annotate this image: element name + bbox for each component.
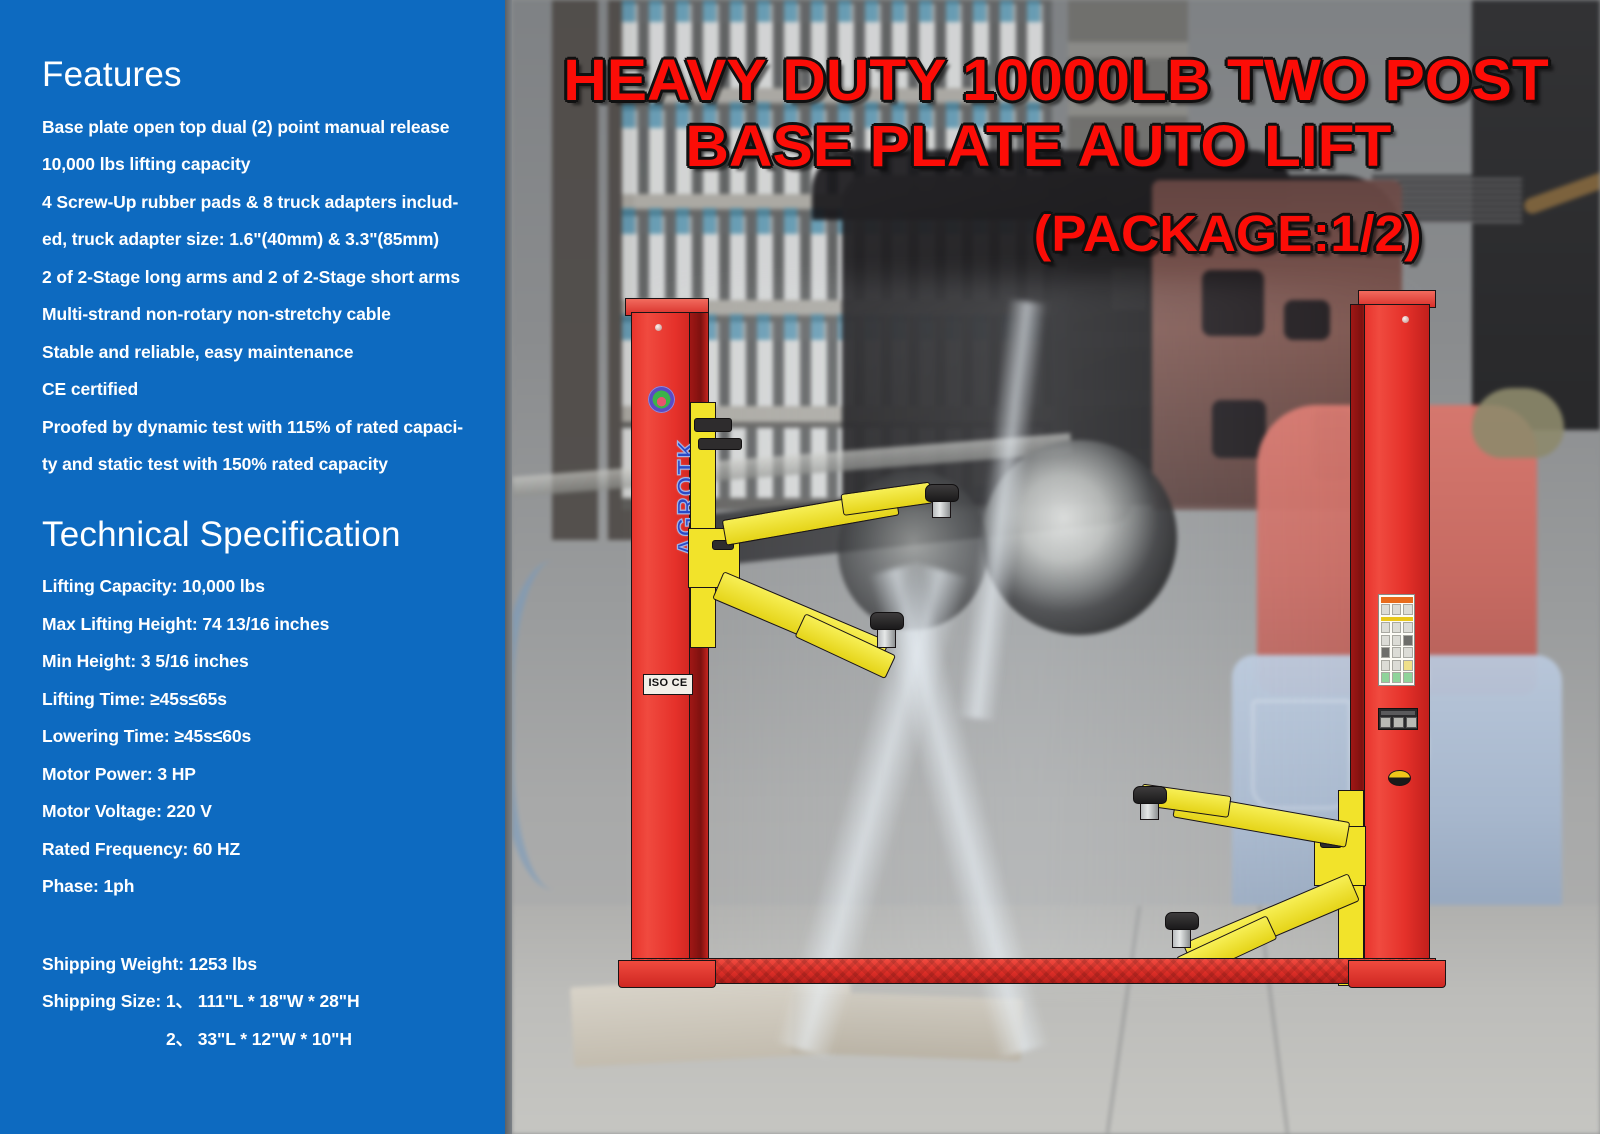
spec-item: Lifting Capacity: 10,000 lbs	[42, 568, 481, 606]
specifications-panel: Features Base plate open top dual (2) po…	[0, 0, 505, 1134]
two-post-lift: AGROTK ISO CE	[512, 0, 1600, 1134]
decal-icon	[1381, 672, 1391, 683]
iso-ce-badge: ISO CE	[643, 674, 693, 695]
spec-item: Motor Power: 3 HP	[42, 756, 481, 794]
features-title: Features	[42, 56, 481, 95]
panel-divider	[505, 0, 512, 1134]
decal-icon	[1392, 647, 1402, 658]
shipping-size-1: Shipping Size: 1、 111"L * 18"W * 28"H	[42, 983, 481, 1021]
spec-item: Max Lifting Height: 74 13/16 inches	[42, 606, 481, 644]
control-button-2[interactable]	[1393, 717, 1404, 728]
feature-item: 10,000 lbs lifting capacity	[42, 146, 481, 184]
feature-item: Base plate open top dual (2) point manua…	[42, 109, 481, 147]
control-button-3[interactable]	[1406, 717, 1417, 728]
decal-icon	[1381, 622, 1391, 633]
decal-icon	[1381, 604, 1391, 615]
agrotk-emblem-left	[648, 386, 675, 413]
spec-item: Phase: 1ph	[42, 868, 481, 906]
post-foot-left	[618, 960, 716, 988]
safety-decal	[1378, 594, 1415, 686]
decal-row-4	[1381, 647, 1413, 658]
decal-icon	[1403, 660, 1413, 671]
decal-icon	[1403, 647, 1413, 658]
spacer	[42, 906, 481, 946]
decal-icon	[1392, 635, 1402, 646]
product-photo: AGROTK ISO CE	[512, 0, 1600, 1134]
post-bolt-right	[1402, 316, 1409, 323]
decal-icon	[1381, 647, 1391, 658]
decal-icon	[1381, 635, 1391, 646]
shipping-weight: Shipping Weight: 1253 lbs	[42, 946, 481, 984]
spec-item: Rated Frequency: 60 HZ	[42, 831, 481, 869]
decal-icon	[1403, 604, 1413, 615]
feature-item: Stable and reliable, easy maintenance	[42, 334, 481, 372]
control-plate[interactable]	[1378, 708, 1418, 730]
decal-icon	[1392, 622, 1402, 633]
carriage-slide-left	[694, 418, 732, 432]
shipping-size-2: 2、 33"L * 12"W * 10"H	[42, 1021, 481, 1059]
feature-item: 2 of 2-Stage long arms and 2 of 2-Stage …	[42, 259, 481, 297]
feature-item: ty and static test with 150% rated capac…	[42, 446, 481, 484]
decal-danger-header	[1381, 597, 1413, 603]
product-marketing-poster: AGROTK ISO CE	[0, 0, 1600, 1134]
control-button-1[interactable]	[1380, 717, 1391, 728]
decal-icon	[1392, 672, 1402, 683]
decal-icon	[1403, 672, 1413, 683]
decal-icon	[1392, 604, 1402, 615]
feature-item: ed, truck adapter size: 1.6"(40mm) & 3.3…	[42, 221, 481, 259]
feature-item: CE certified	[42, 371, 481, 409]
feature-item: 4 Screw-Up rubber pads & 8 truck adapter…	[42, 184, 481, 222]
rubber-pad-right-upper	[1133, 786, 1167, 804]
technical-specification-title: Technical Specification	[42, 516, 481, 555]
lift-post-right	[1364, 304, 1430, 984]
decal-row-2	[1381, 622, 1413, 633]
rubber-pad-left-lower	[870, 612, 904, 630]
decal-warning-header	[1381, 617, 1413, 621]
cable-guide-left	[698, 438, 742, 450]
rubber-pad-right-lower	[1165, 912, 1199, 930]
decal-icon	[1392, 660, 1402, 671]
spec-item: Lowering Time: ≥45s≤60s	[42, 718, 481, 756]
feature-item: Proofed by dynamic test with 115% of rat…	[42, 409, 481, 447]
pad-stem-right-lower	[1172, 928, 1191, 948]
feature-item: Multi-strand non-rotary non-stretchy cab…	[42, 296, 481, 334]
decal-row-1	[1381, 604, 1413, 615]
release-knob[interactable]	[1388, 770, 1411, 786]
post-foot-right	[1348, 960, 1446, 988]
decal-icon	[1403, 635, 1413, 646]
decal-row-3	[1381, 635, 1413, 646]
control-label-strip	[1381, 711, 1415, 715]
decal-icon	[1381, 660, 1391, 671]
decal-icon	[1403, 622, 1413, 633]
pad-stem-left-lower	[877, 628, 896, 648]
spec-item: Motor Voltage: 220 V	[42, 793, 481, 831]
base-plate	[631, 958, 1436, 984]
decal-row-5	[1381, 660, 1413, 671]
post-bolt-left	[655, 324, 662, 331]
spec-item: Lifting Time: ≥45s≤65s	[42, 681, 481, 719]
rubber-pad-left-upper	[925, 484, 959, 502]
decal-row-6	[1381, 672, 1413, 683]
spec-item: Min Height: 3 5/16 inches	[42, 643, 481, 681]
